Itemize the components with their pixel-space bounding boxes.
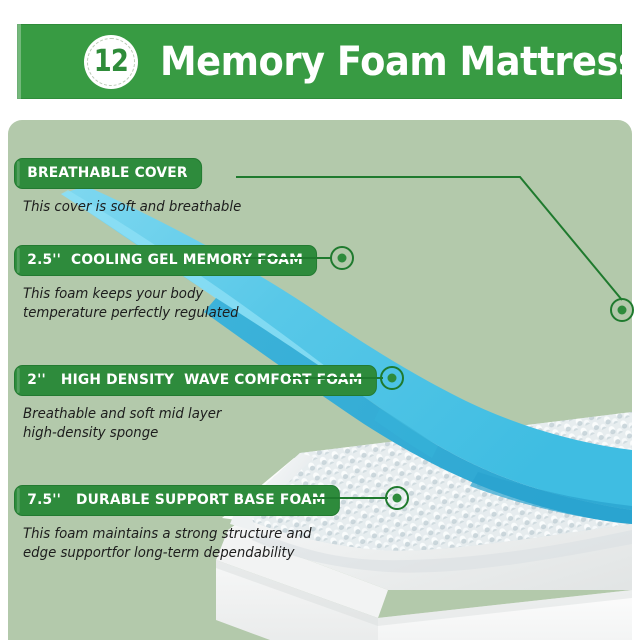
- page-title: Memory Foam Mattress: [160, 24, 639, 99]
- label-wave-comfort-foam[interactable]: 2'' HIGH DENSITY WAVE COMFORT FOAM: [14, 365, 377, 396]
- label-breathable-cover[interactable]: BREATHABLE COVER: [14, 158, 202, 189]
- cooling-gel-memory-foam-layer: [61, 186, 632, 524]
- infographic-page: 12 Memory Foam Mattress: [0, 0, 640, 640]
- label-cooling-gel-memory-foam[interactable]: 2.5'' COOLING GEL MEMORY FOAM: [14, 245, 317, 276]
- callout-durable-support-base-foam: 7.5'' DURABLE SUPPORT BASE FOAM This foa…: [14, 485, 357, 562]
- badge-number: 12: [94, 47, 128, 77]
- content-panel: BREATHABLE COVER This cover is soft and …: [8, 120, 632, 640]
- description-durable-support-base-foam: This foam maintains a strong structure a…: [23, 525, 340, 562]
- label-durable-support-base-foam[interactable]: 7.5'' DURABLE SUPPORT BASE FOAM: [14, 485, 340, 516]
- callout-cooling-gel-memory-foam: 2.5'' COOLING GEL MEMORY FOAM This foam …: [14, 245, 333, 322]
- description-breathable-cover: This cover is soft and breathable: [23, 198, 241, 217]
- callout-breathable-cover: BREATHABLE COVER This cover is soft and …: [14, 158, 253, 217]
- description-cooling-gel-memory-foam: This foam keeps your body temperature pe…: [23, 285, 318, 322]
- description-wave-comfort-foam: Breathable and soft mid layer high-densi…: [23, 405, 377, 442]
- callout-wave-comfort-foam: 2'' HIGH DENSITY WAVE COMFORT FOAM Breat…: [14, 365, 396, 442]
- badge-circle: 12: [84, 35, 138, 89]
- header-banner: 12 Memory Foam Mattress: [17, 24, 622, 99]
